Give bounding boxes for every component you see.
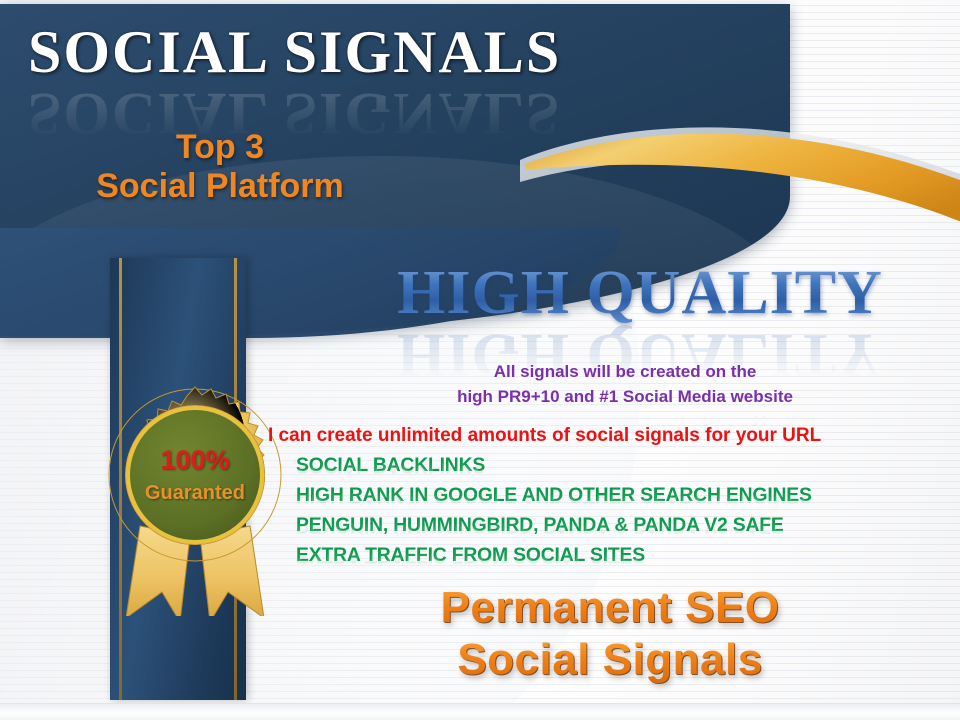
footer-line-2: Social Signals [300,634,920,686]
headline-text: HIGH QUALITY [330,262,950,324]
feature-item: HIGH RANK IN GOOGLE AND OTHER SEARCH ENG… [296,486,960,505]
subtitle-block: Top 3 Social Platform [40,128,400,207]
feature-list: SOCIAL BACKLINKS HIGH RANK IN GOOGLE AND… [296,456,956,576]
description-line-1: All signals will be created on the [300,360,950,385]
feature-item: EXTRA TRAFFIC FROM SOCIAL SITES [296,546,960,565]
feature-item: PENGUIN, HUMMINGBIRD, PANDA & PANDA V2 S… [296,516,960,535]
description-block: All signals will be created on the high … [300,360,950,409]
guarantee-seal: 100% Guaranted [106,386,284,616]
subtitle-line-2: Social Platform [40,167,400,206]
page-title: SOCIAL SIGNALS [28,22,728,82]
footer-line-1: Permanent SEO [300,582,920,634]
offer-statement: I can create unlimited amounts of social… [268,425,960,447]
poster-title-block: SOCIAL SIGNALS SOCIAL SIGNALS [28,22,728,144]
bottom-edge-strip [0,703,960,720]
description-line-2: high PR9+10 and #1 Social Media website [300,385,950,410]
subtitle-line-1: Top 3 [176,128,264,166]
poster-canvas: SOCIAL SIGNALS SOCIAL SIGNALS Top 3 Soci… [0,0,960,720]
footer-headline-block: Permanent SEO Social Signals [300,582,920,686]
feature-item: SOCIAL BACKLINKS [296,456,960,475]
